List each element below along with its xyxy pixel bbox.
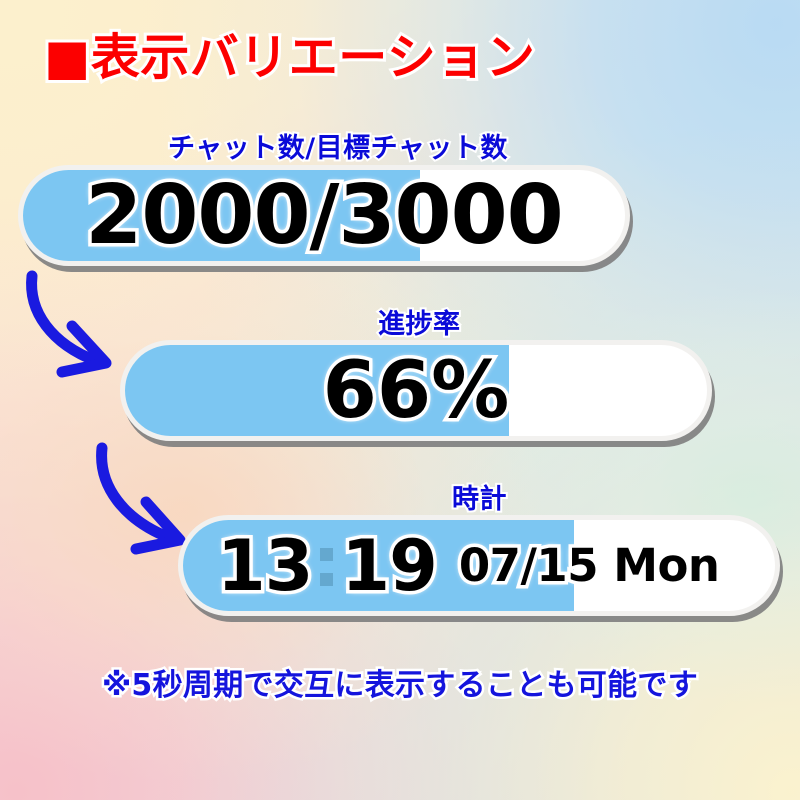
clock-minutes: 19 <box>341 525 436 607</box>
poster-canvas: ■表示バリエーション チャット数/目標チャット数 2000/3000 進捗率 6… <box>0 0 800 800</box>
panel-label-clock: 時計 <box>452 477 507 516</box>
display-pill-clock: 13 19 07/15 Mon <box>178 515 780 616</box>
pill-content-progress-rate: 66% <box>125 345 707 436</box>
clock-time: 13 19 <box>217 525 437 607</box>
footer-note: ※5秒周期で交互に表示することも可能です <box>0 660 800 704</box>
clock-colon-icon <box>320 548 333 586</box>
pill-content-clock: 13 19 07/15 Mon <box>183 520 775 611</box>
panel-label-progress-rate: 進捗率 <box>378 302 461 341</box>
pill-content-chat-count: 2000/3000 <box>23 170 625 261</box>
progress-rate-value: 66% <box>323 346 510 436</box>
clock-hours: 13 <box>217 525 312 607</box>
panel-label-chat-count: チャット数/目標チャット数 <box>168 126 508 165</box>
chat-count-value: 2000/3000 <box>85 168 562 263</box>
display-pill-chat-count: 2000/3000 <box>18 165 630 266</box>
display-pill-progress-rate: 66% <box>120 340 712 441</box>
page-title: ■表示バリエーション <box>44 18 535 89</box>
clock-date: 07/15 Mon <box>459 539 720 592</box>
